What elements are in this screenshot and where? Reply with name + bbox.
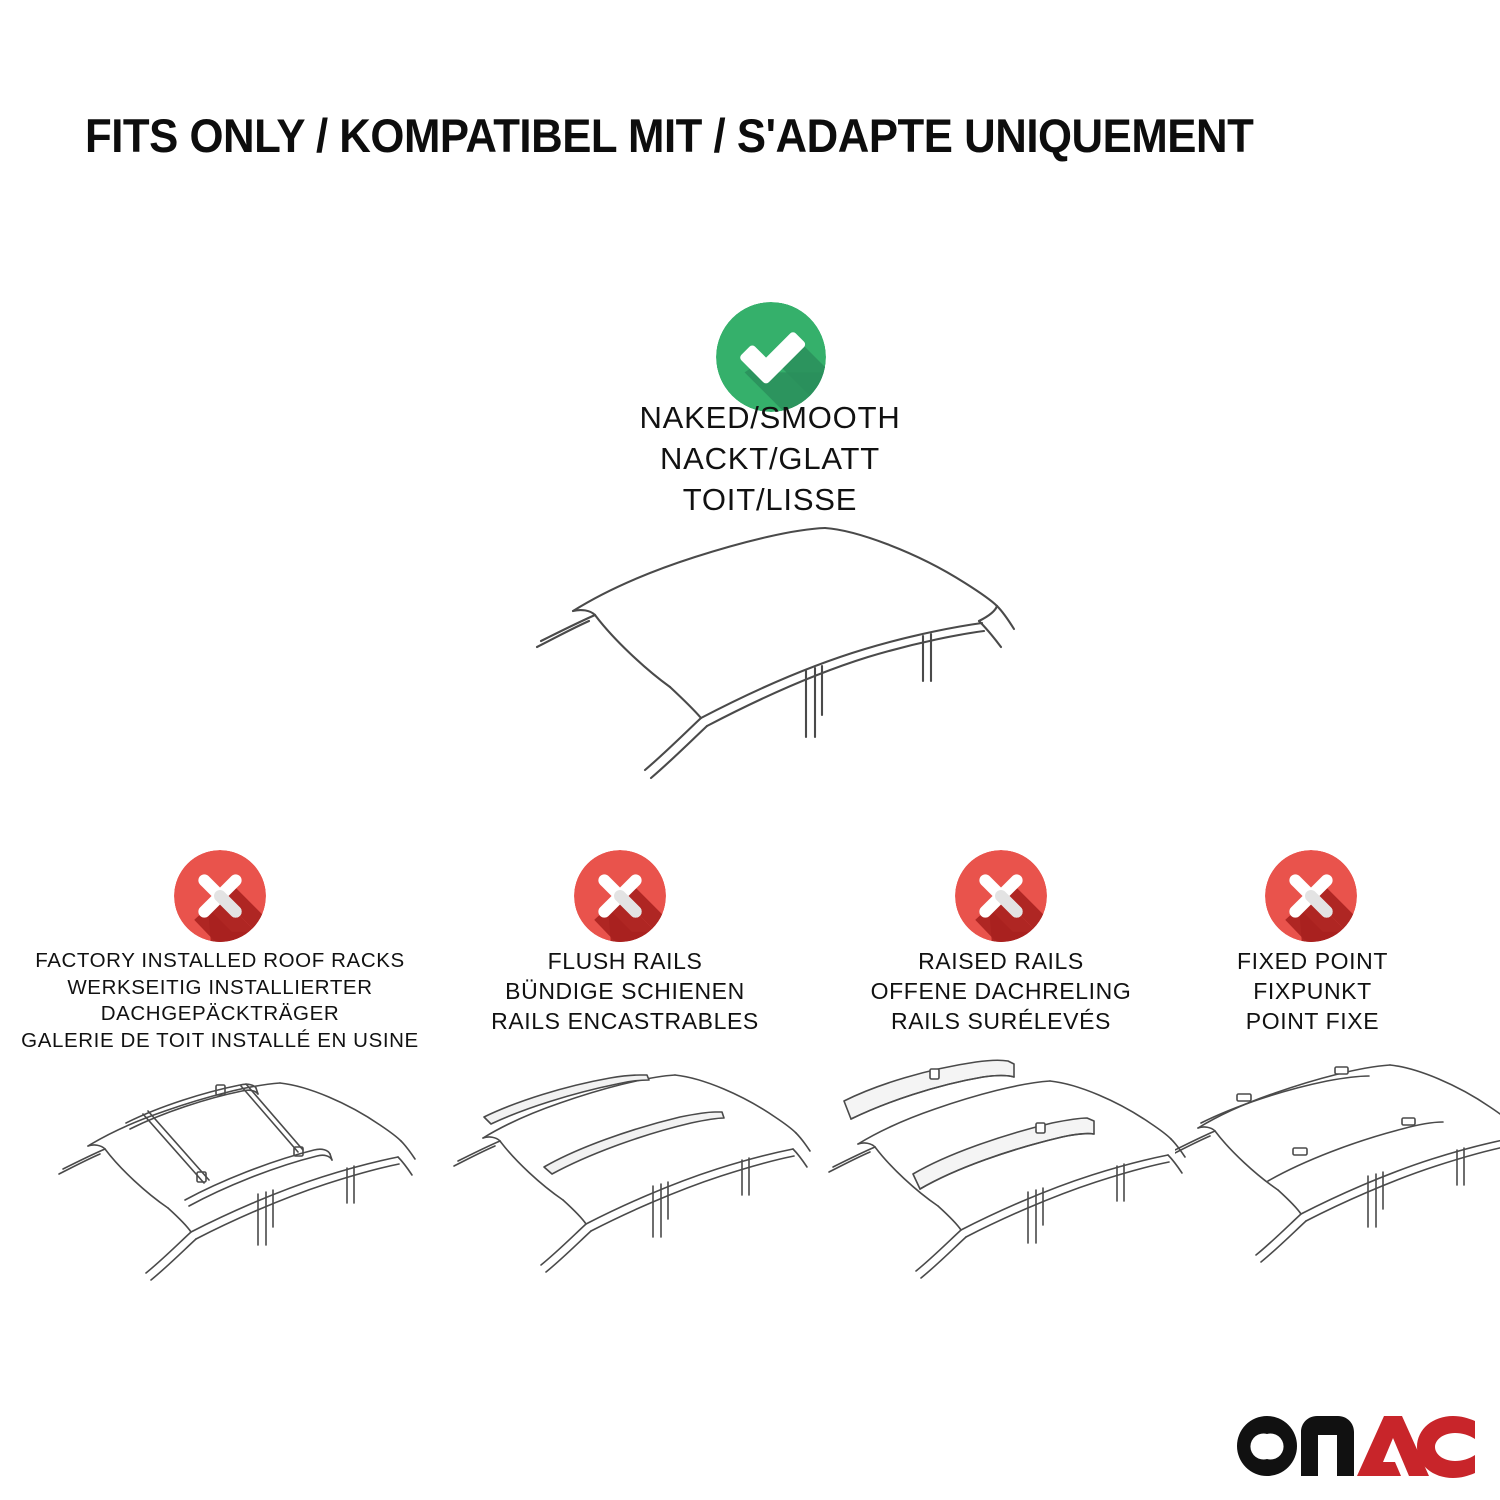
caption-line: NACKT/GLATT [520, 439, 1020, 480]
caption-line: RAILS SURÉLEVÉS [805, 1007, 1197, 1037]
caption-line: FLUSH RAILS [430, 947, 820, 977]
caption-line: GALERIE DE TOIT INSTALLÉ EN USINE [20, 1028, 420, 1055]
caption-line: DACHGEPÄCKTRÄGER [20, 1001, 420, 1028]
car-roof-flush-rails-illustration [425, 1055, 845, 1295]
compatible-caption: NAKED/SMOOTH NACKT/GLATT TOIT/LISSE [520, 398, 1020, 521]
cross-circle-icon [574, 850, 666, 942]
incompatible-caption-3: RAISED RAILS OFFENE DACHRELING RAILS SUR… [805, 947, 1197, 1037]
caption-line: FIXPUNKT [1170, 977, 1455, 1007]
cross-circle-icon [1265, 850, 1357, 942]
page-title: FITS ONLY / KOMPATIBEL MIT / S'ADAPTE UN… [85, 112, 1322, 159]
caption-line: WERKSEITIG INSTALLIERTER [20, 975, 420, 1002]
caption-line: NAKED/SMOOTH [520, 398, 1020, 439]
caption-line: RAILS ENCASTRABLES [430, 1007, 820, 1037]
car-roof-fixed-point-illustration [1175, 1055, 1500, 1295]
incompatible-caption-2: FLUSH RAILS BÜNDIGE SCHIENEN RAILS ENCAS… [430, 947, 820, 1037]
car-roof-naked-smooth-illustration [495, 505, 1035, 805]
cross-circle-icon [174, 850, 266, 942]
car-roof-raised-rails-illustration [800, 1055, 1220, 1295]
caption-line: FIXED POINT [1170, 947, 1455, 977]
cross-circle-icon [955, 850, 1047, 942]
car-roof-factory-roof-racks-illustration [30, 1055, 450, 1295]
incompatible-caption-1: FACTORY INSTALLED ROOF RACKS WERKSEITIG … [20, 948, 420, 1055]
check-circle-icon [716, 302, 826, 412]
caption-line: RAISED RAILS [805, 947, 1197, 977]
caption-line: OFFENE DACHRELING [805, 977, 1197, 1007]
incompatible-caption-4: FIXED POINT FIXPUNKT POINT FIXE [1170, 947, 1455, 1037]
omac-logo [1237, 1414, 1477, 1482]
caption-line: FACTORY INSTALLED ROOF RACKS [20, 948, 420, 975]
caption-line: BÜNDIGE SCHIENEN [430, 977, 820, 1007]
caption-line: POINT FIXE [1170, 1007, 1455, 1037]
